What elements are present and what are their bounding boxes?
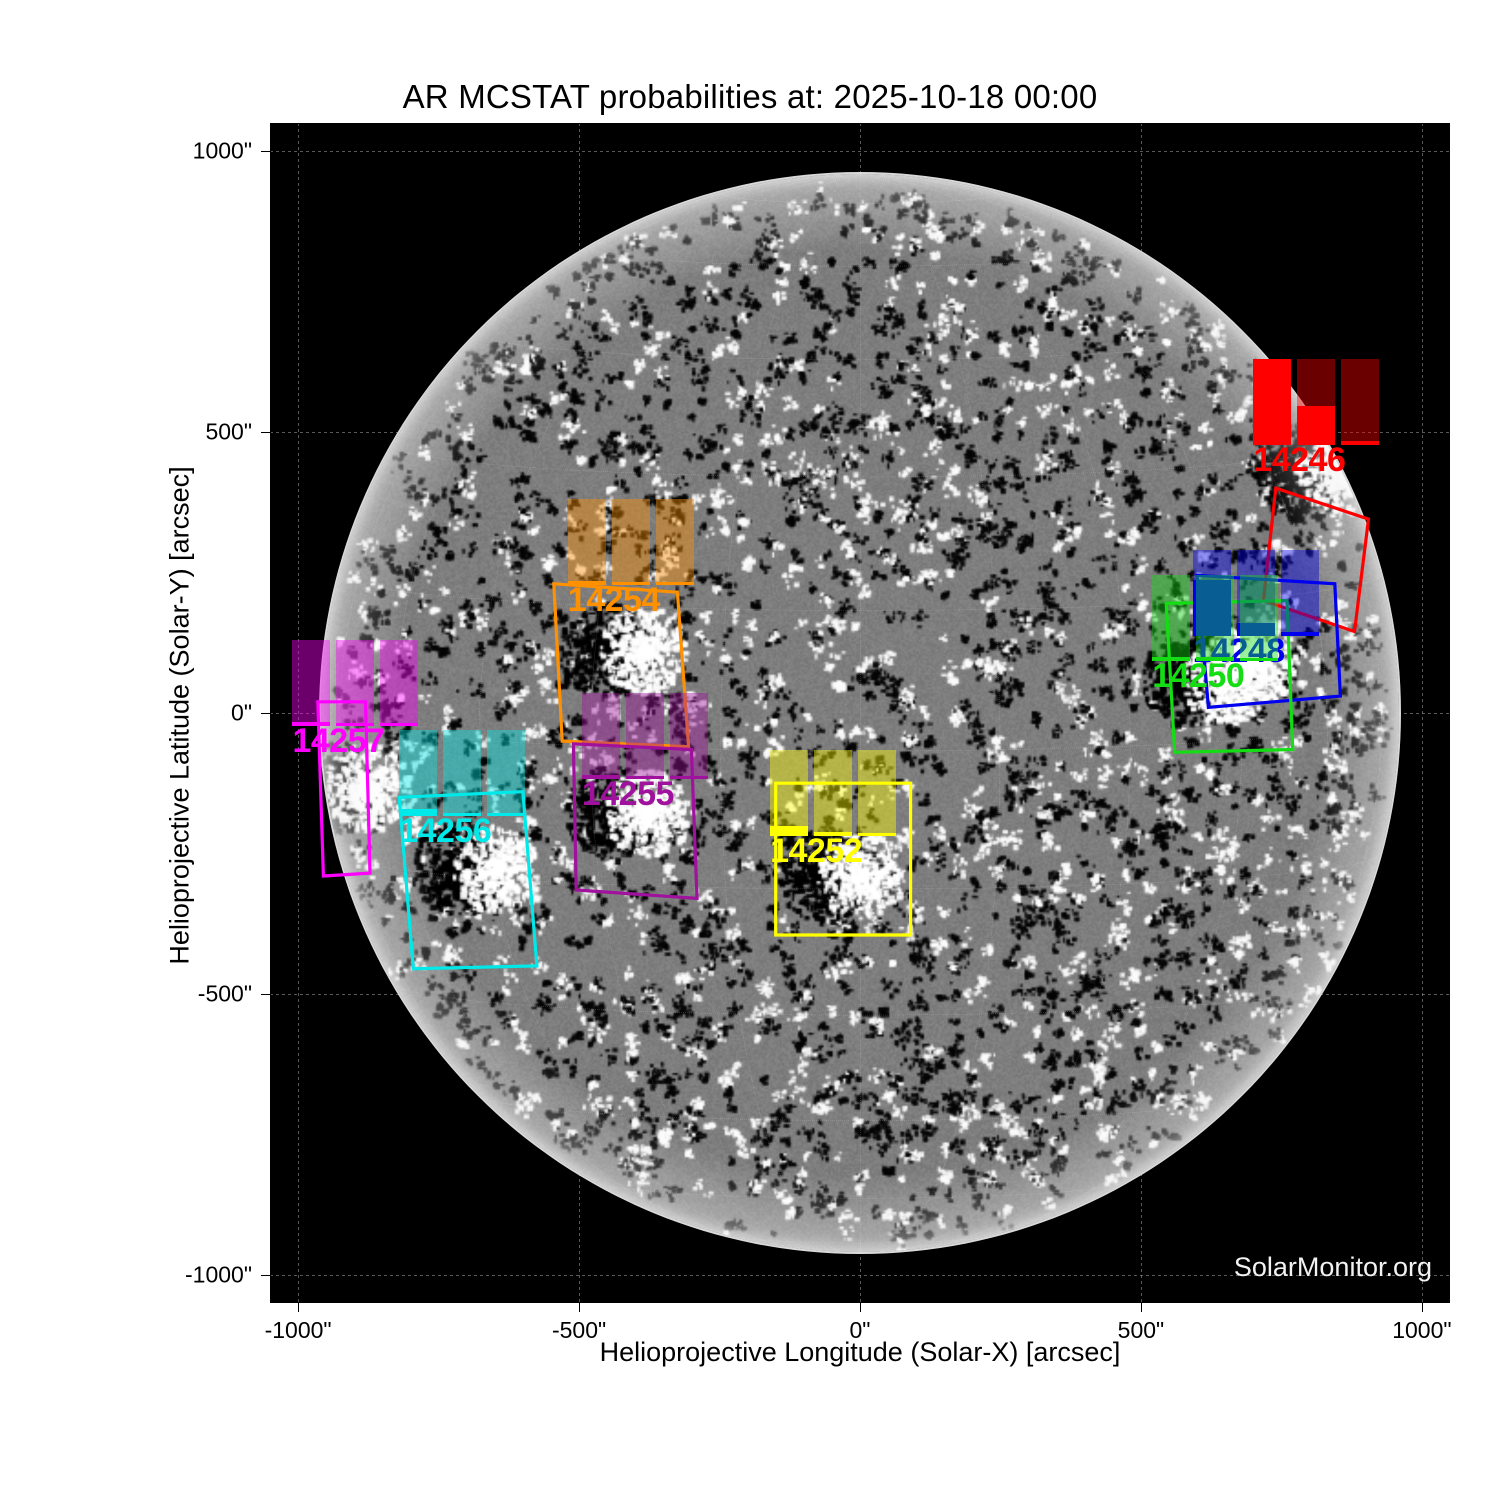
y-tickmark xyxy=(261,151,270,152)
y-tickmark xyxy=(261,994,270,995)
y-tick-label: 500" xyxy=(70,419,252,446)
x-tickmark xyxy=(1141,1303,1142,1312)
y-tick-label: 1000" xyxy=(70,138,252,165)
x-tickmark xyxy=(298,1303,299,1312)
solar-disk xyxy=(321,174,1400,1253)
y-tickmark xyxy=(261,713,270,714)
y-tick-label: -1000" xyxy=(70,1261,252,1288)
magnetogram-plot[interactable]: 1424614248142501425214254142551425614257… xyxy=(270,123,1450,1303)
x-tickmark xyxy=(860,1303,861,1312)
watermark: SolarMonitor.org xyxy=(1234,1252,1432,1283)
grid-line-horizontal xyxy=(270,151,1450,152)
y-tickmark xyxy=(261,432,270,433)
y-axis-label: Helioprojective Latitude (Solar-Y) [arcs… xyxy=(165,126,196,1306)
x-axis-label: Helioprojective Longitude (Solar-X) [arc… xyxy=(270,1337,1450,1368)
heliographic-grid xyxy=(321,174,1400,1253)
x-tickmark xyxy=(1422,1303,1423,1312)
page-title: AR MCSTAT probabilities at: 2025-10-18 0… xyxy=(0,78,1500,116)
y-tick-label: 0" xyxy=(70,700,252,727)
y-tickmark xyxy=(261,1275,270,1276)
y-tick-label: -500" xyxy=(70,980,252,1007)
x-tickmark xyxy=(579,1303,580,1312)
solar-monitor-figure: AR MCSTAT probabilities at: 2025-10-18 0… xyxy=(0,0,1500,1500)
